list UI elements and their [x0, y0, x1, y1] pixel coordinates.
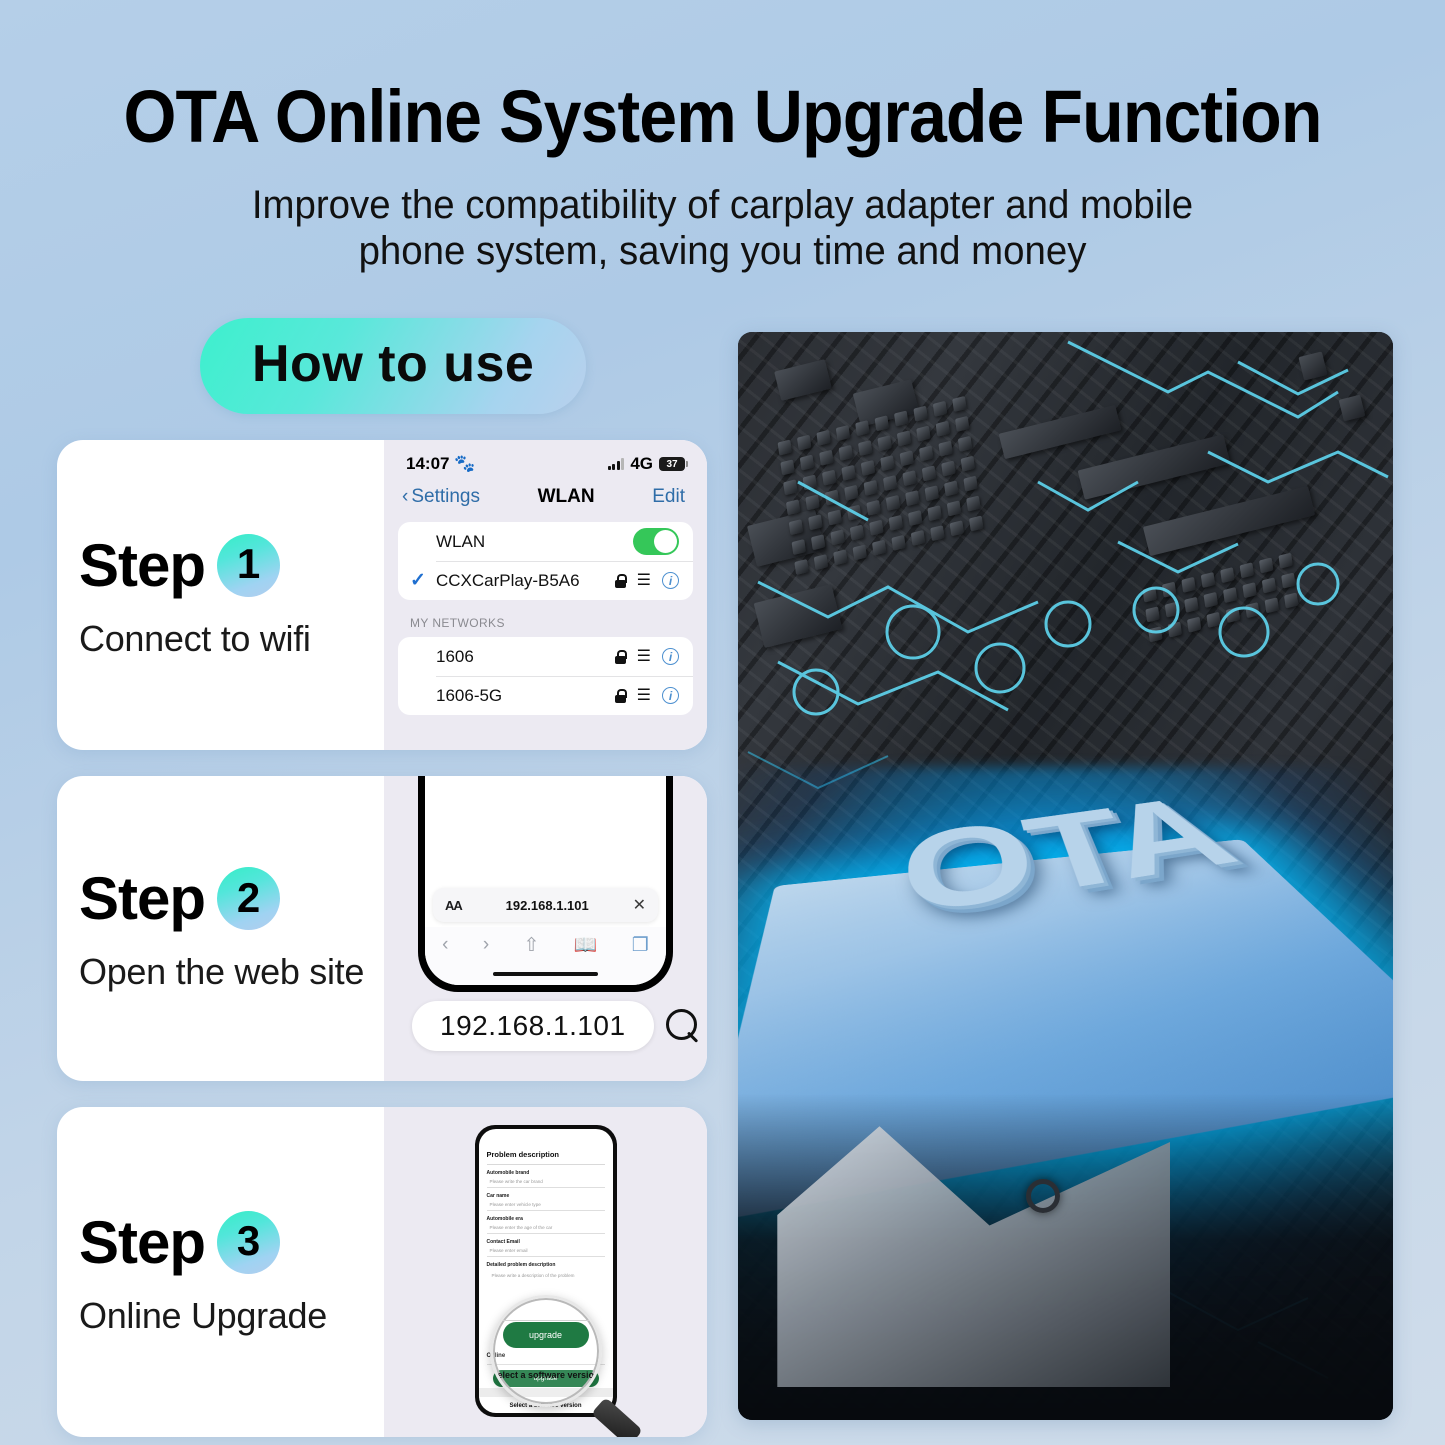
status-time-group: 14:07 🐾	[406, 454, 475, 474]
magnifier-content: upgrade Select a software version	[493, 1298, 599, 1404]
step-1-screenshot: 14:07 🐾 4G 37 ‹ Settings WLAN Ed	[384, 440, 707, 750]
field-input[interactable]: Please write the car brand	[487, 1176, 605, 1188]
my-networks-group: 1606 ☰ i 1606-5G ☰ i	[398, 637, 693, 715]
wifi-icon: ☰	[637, 688, 651, 704]
step-label: Step	[79, 1208, 205, 1277]
back-to-settings-button[interactable]: ‹ Settings	[402, 486, 480, 508]
network-row-1606-5g[interactable]: 1606-5G ☰ i	[398, 676, 693, 715]
network-name: 1606	[436, 647, 615, 667]
step-card-1: Step 1 Connect to wifi 14:07 🐾 4G 37	[57, 440, 707, 750]
bookmarks-icon[interactable]: 📖	[574, 933, 598, 957]
row-icons-group: ☰ i	[615, 648, 679, 665]
lock-icon	[615, 574, 626, 588]
close-icon[interactable]: ✕	[633, 895, 646, 915]
search-icon	[666, 1009, 700, 1043]
info-icon[interactable]: i	[662, 687, 679, 704]
paw-icon: 🐾	[454, 454, 475, 473]
step-3-description: Online Upgrade	[79, 1295, 384, 1337]
step-1-heading: Step 1	[79, 531, 384, 600]
safari-phone-mockup: AA 192.168.1.101 ✕ ‹ › ⇧ 📖 ❐	[418, 776, 673, 992]
magnified-footer-text: Select a software version	[491, 1370, 599, 1380]
wifi-icon: ☰	[637, 649, 651, 665]
edit-button[interactable]: Edit	[652, 486, 685, 508]
status-time: 14:07	[406, 454, 449, 473]
page-header: OTA Online System Upgrade Function Impro…	[0, 0, 1445, 274]
form-title: Problem description	[487, 1150, 605, 1165]
magnified-upgrade-button[interactable]: upgrade	[503, 1322, 589, 1348]
form-field-detail: Detailed problem description Please writ…	[487, 1257, 605, 1278]
field-input[interactable]: Please enter the age of the car	[487, 1222, 605, 1234]
form-field-email: Contact Email Please enter email	[487, 1234, 605, 1257]
network-row-1606[interactable]: 1606 ☰ i	[398, 637, 693, 676]
step-card-2: Step 2 Open the web site AA 192.168.1.10…	[57, 776, 707, 1081]
tabs-icon[interactable]: ❐	[632, 934, 649, 957]
step-2-description: Open the web site	[79, 951, 384, 993]
page-title: OTA Online System Upgrade Function	[58, 78, 1387, 156]
step-3-text: Step 3 Online Upgrade	[57, 1107, 384, 1437]
field-input[interactable]: Please enter email	[487, 1245, 605, 1257]
status-right-group: 4G 37	[608, 454, 685, 474]
form-field-era: Automobile era Please enter the age of t…	[487, 1211, 605, 1234]
nav-title: WLAN	[538, 486, 595, 508]
row-icons-group: ☰ i	[615, 687, 679, 704]
ios-status-bar: 14:07 🐾 4G 37	[392, 440, 699, 474]
step-1-text: Step 1 Connect to wifi	[57, 440, 384, 750]
network-type: 4G	[630, 454, 653, 474]
field-textarea[interactable]: Please write a description of the proble…	[487, 1268, 605, 1278]
forward-icon[interactable]: ›	[483, 934, 489, 956]
step-card-3: Step 3 Online Upgrade Problem descriptio…	[57, 1107, 707, 1437]
address-bar-url: 192.168.1.101	[462, 898, 633, 913]
step-3-screenshot: Problem description Automobile brand Ple…	[384, 1107, 707, 1437]
wlan-toggle-switch[interactable]	[633, 528, 679, 555]
wlan-toggle-row[interactable]: WLAN	[398, 522, 693, 561]
how-to-use-badge: How to use	[200, 318, 586, 414]
lock-icon	[615, 689, 626, 703]
ota-chip-image: OTA	[738, 332, 1393, 1420]
row-icons-group: ☰ i	[615, 572, 679, 589]
magnified-search-pill: 192.168.1.101	[412, 1001, 700, 1051]
wlan-row-label: WLAN	[436, 532, 633, 552]
my-networks-header: MY NETWORKS	[392, 600, 699, 637]
text-size-icon[interactable]: AA	[445, 898, 462, 913]
chevron-left-icon: ‹	[402, 486, 408, 508]
back-label: Settings	[411, 486, 480, 508]
step-number-badge: 1	[217, 534, 280, 597]
page-subtitle: Improve the compatibility of carplay ada…	[29, 182, 1416, 274]
wifi-icon: ☰	[637, 573, 651, 589]
step-label: Step	[79, 531, 205, 600]
subtitle-line-1: Improve the compatibility of carplay ada…	[29, 182, 1416, 228]
ios-wlan-screen: 14:07 🐾 4G 37 ‹ Settings WLAN Ed	[384, 440, 707, 750]
lock-icon	[615, 650, 626, 664]
form-field-car-name: Car name Please enter vehicle type	[487, 1188, 605, 1211]
step-number-badge: 2	[217, 867, 280, 930]
step-label: Step	[79, 864, 205, 933]
search-input[interactable]: 192.168.1.101	[412, 1001, 654, 1051]
safari-address-bar[interactable]: AA 192.168.1.101 ✕	[433, 888, 658, 922]
home-indicator	[425, 963, 666, 985]
step-2-screenshot: AA 192.168.1.101 ✕ ‹ › ⇧ 📖 ❐ 192.168.1.1	[384, 776, 707, 1081]
battery-icon: 37	[659, 457, 685, 471]
step-cards-list: Step 1 Connect to wifi 14:07 🐾 4G 37	[57, 440, 707, 1437]
safari-screen: AA 192.168.1.101 ✕ ‹ › ⇧ 📖 ❐	[425, 776, 666, 985]
field-input[interactable]: Please enter vehicle type	[487, 1199, 605, 1211]
step-3-heading: Step 3	[79, 1208, 384, 1277]
form-field-brand: Automobile brand Please write the car br…	[487, 1165, 605, 1188]
safari-toolbar: ‹ › ⇧ 📖 ❐	[425, 927, 666, 963]
ios-nav-bar: ‹ Settings WLAN Edit	[392, 474, 699, 522]
step-number-badge: 3	[217, 1211, 280, 1274]
info-icon[interactable]: i	[662, 648, 679, 665]
wlan-toggle-group: WLAN ✓ CCXCarPlay-B5A6 ☰ i	[398, 522, 693, 600]
subtitle-line-2: phone system, saving you time and money	[29, 228, 1416, 274]
step-1-description: Connect to wifi	[79, 618, 384, 660]
magnifier-icon: upgrade Select a software version	[490, 1295, 602, 1407]
connected-network-name: CCXCarPlay-B5A6	[436, 571, 615, 591]
info-icon[interactable]: i	[662, 572, 679, 589]
back-icon[interactable]: ‹	[442, 934, 448, 956]
step-2-heading: Step 2	[79, 864, 384, 933]
network-name: 1606-5G	[436, 686, 615, 706]
share-icon[interactable]: ⇧	[523, 934, 539, 957]
step-2-text: Step 2 Open the web site	[57, 776, 384, 1081]
connected-network-row[interactable]: ✓ CCXCarPlay-B5A6 ☰ i	[398, 561, 693, 600]
signal-bars-icon	[608, 458, 625, 470]
checkmark-icon: ✓	[410, 569, 426, 592]
